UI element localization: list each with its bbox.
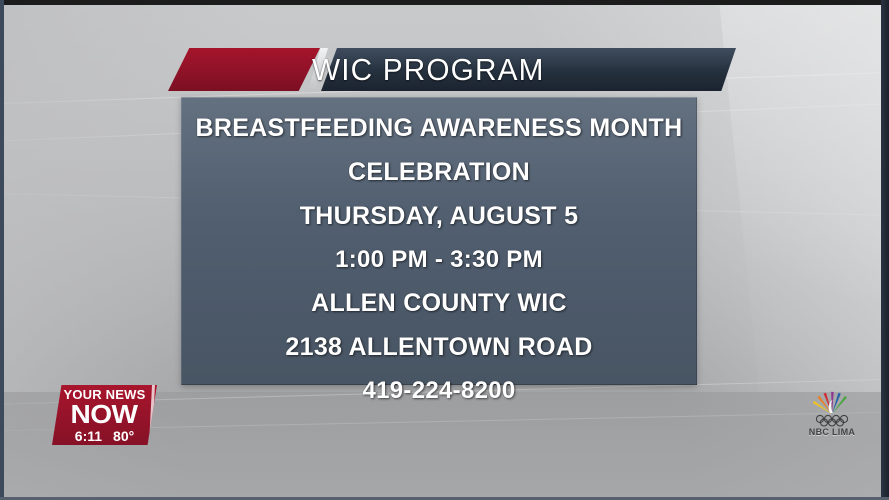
nbc-peacock-icon: [812, 389, 852, 415]
info-line-phone: 419-224-8200: [362, 379, 515, 403]
affiliate-name-text: NBC LIMA: [809, 428, 855, 437]
station-bug: YOUR NEWS NOW 6:11 80°: [52, 385, 157, 445]
info-line-date: THURSDAY, AUGUST 5: [300, 204, 579, 229]
station-bug-content: YOUR NEWS NOW 6:11 80°: [52, 385, 157, 445]
frame-edge-right: [881, 0, 889, 500]
info-line-event-title: BREASTFEEDING AWARENESS MONTH: [196, 116, 683, 141]
frame-edge-top: [0, 0, 889, 5]
broadcast-frame: WIC PROGRAM BREASTFEEDING AWARENESS MONT…: [0, 0, 889, 500]
affiliate-logo: NBC LIMA: [797, 389, 867, 445]
info-line-event-subtitle: CELEBRATION: [348, 160, 530, 185]
info-line-venue: ALLEN COUNTY WIC: [311, 291, 567, 316]
banner-red-block: [168, 48, 320, 91]
banner-title-text: WIC PROGRAM: [312, 48, 545, 91]
frame-edge-left: [0, 0, 4, 500]
info-line-address: 2138 ALLENTOWN ROAD: [285, 335, 592, 360]
olympic-rings-icon: [812, 414, 852, 427]
info-line-time: 1:00 PM - 3:30 PM: [335, 248, 543, 272]
temperature-readout: 80°: [113, 429, 134, 443]
clock-readout: 6:11: [75, 429, 102, 443]
info-panel: BREASTFEEDING AWARENESS MONTH CELEBRATIO…: [181, 97, 697, 385]
station-bug-readout: 6:11 80°: [75, 429, 134, 443]
station-bug-line2: NOW: [71, 402, 138, 427]
info-panel-lines: BREASTFEEDING AWARENESS MONTH CELEBRATIO…: [181, 97, 697, 385]
